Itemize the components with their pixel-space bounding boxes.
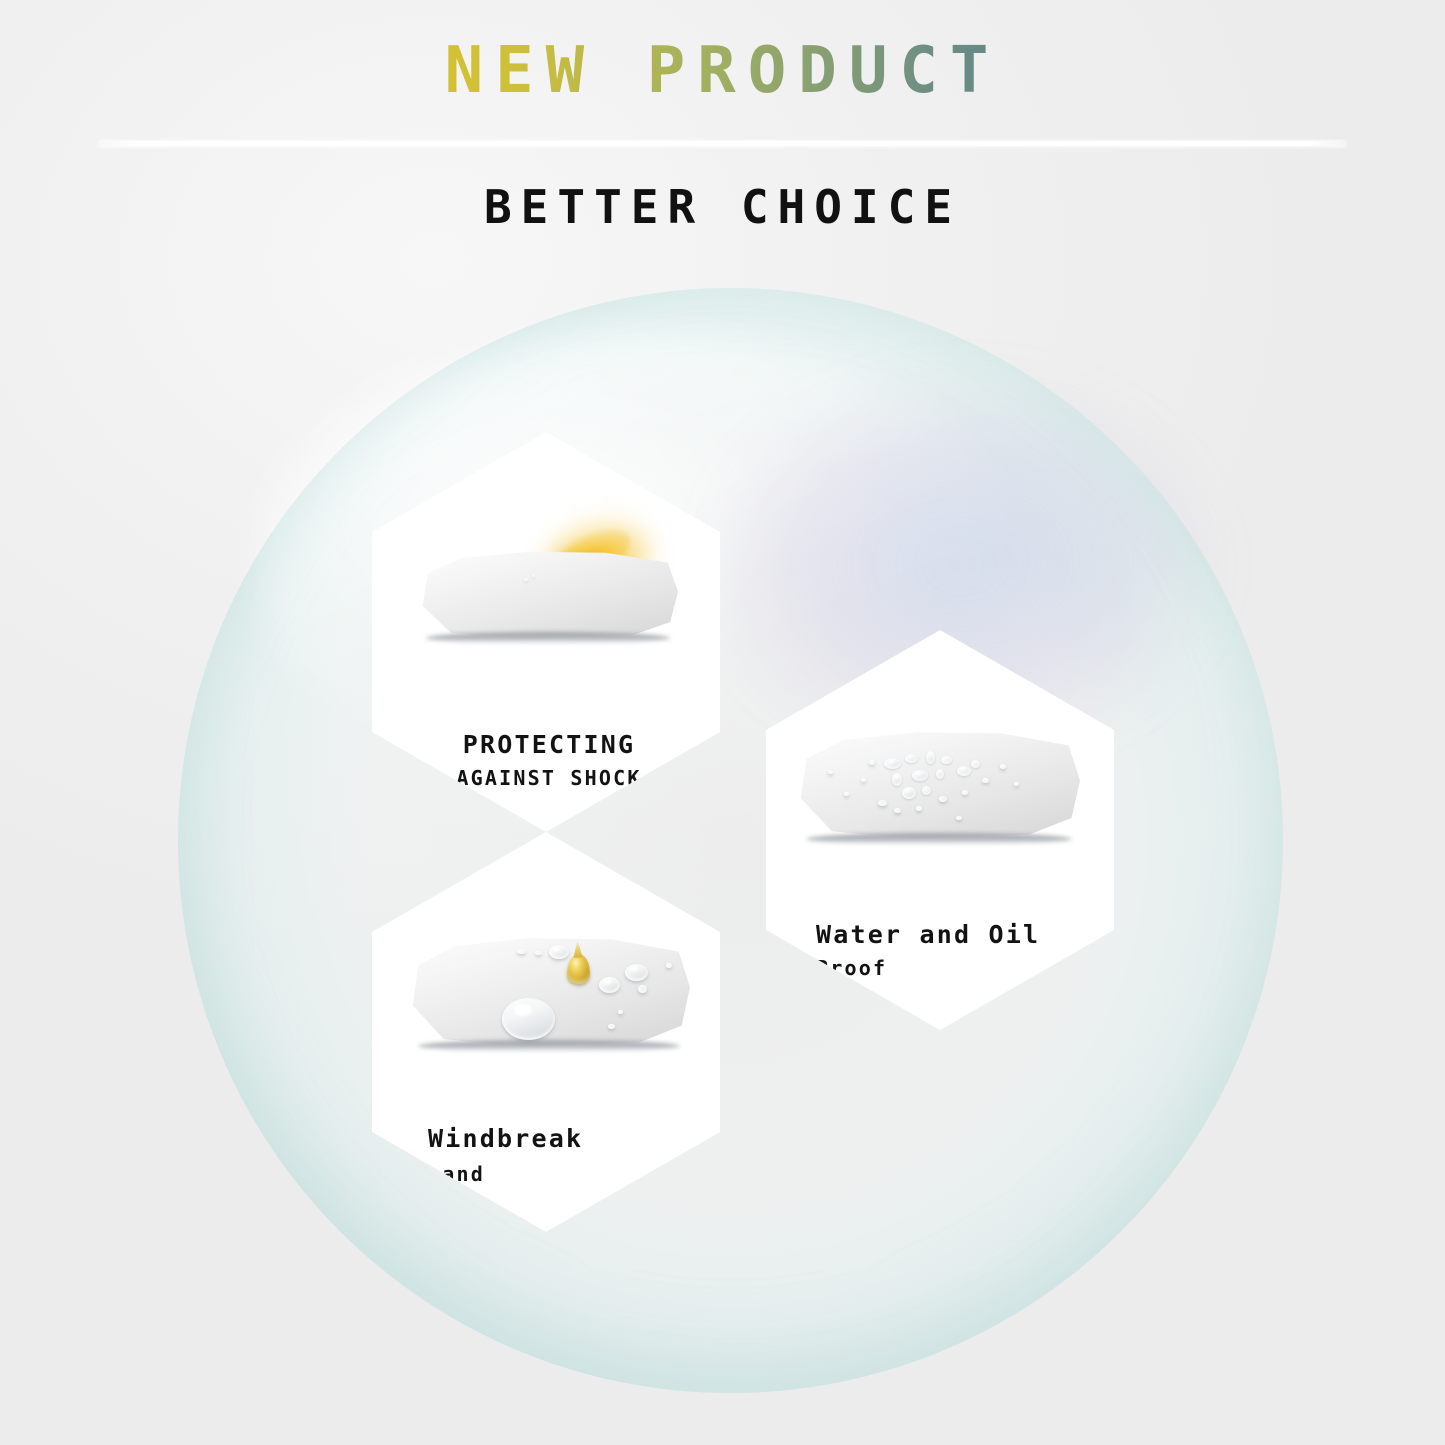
bubble-inner-shadow: [178, 288, 1283, 1393]
lens-shock: [420, 550, 678, 640]
header-divider: [98, 141, 1346, 146]
lens-water: [798, 730, 1080, 840]
large-water-bead: [502, 998, 555, 1040]
page-title: NEW PRODUCT: [0, 34, 1445, 108]
caption-shock-line1: PROTECTING: [372, 730, 720, 759]
caption-windbreak-line1: Windbreak: [428, 1124, 720, 1153]
product-infographic: NEW PRODUCT BETTER CHOICE: [0, 0, 1445, 1445]
lens-windbreak: [410, 936, 690, 1048]
page-subtitle: BETTER CHOICE: [0, 180, 1445, 234]
oil-droplet: [567, 954, 590, 984]
caption-water-oil-line1: Water and Oil: [816, 920, 1114, 949]
bubble-graphic: [178, 288, 1283, 1393]
